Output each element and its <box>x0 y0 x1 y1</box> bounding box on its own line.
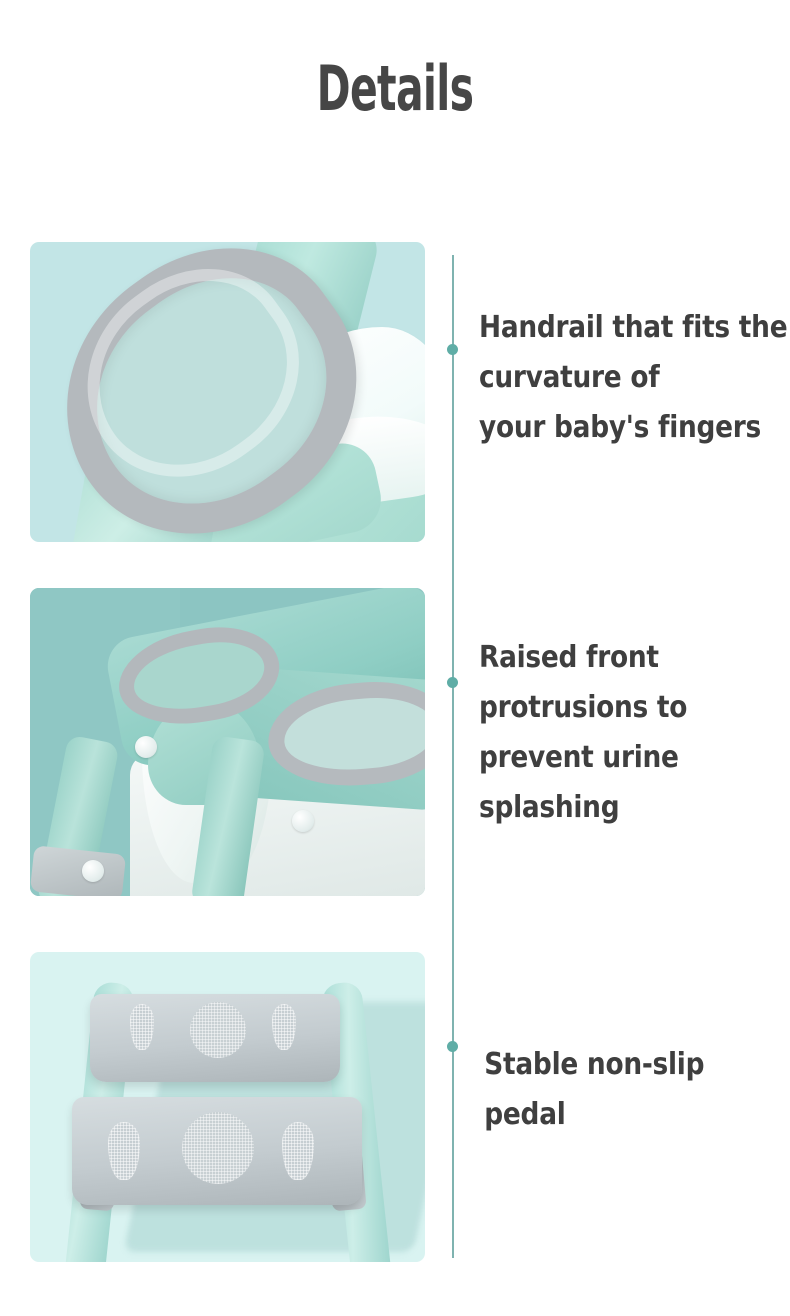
feature-photo-splash-guard <box>30 588 425 896</box>
adjustment-knob-1 <box>135 736 157 758</box>
feature-text-handrail: Handrail that fits the curvature of your… <box>479 303 784 453</box>
feature-photo-handrail <box>30 242 425 542</box>
adjustment-knob-3 <box>82 860 104 882</box>
feature-line: Raised front <box>479 633 747 683</box>
splash-guard-illustration <box>30 588 425 896</box>
feature-text-splash-guard: Raised front protrusions to prevent urin… <box>479 633 784 833</box>
gray-footplate <box>30 845 126 896</box>
feature-line: prevent urine <box>479 733 747 783</box>
pedal-illustration <box>30 952 425 1262</box>
page-title: Details <box>134 52 655 126</box>
timeline-dot-3 <box>447 1041 458 1052</box>
handrail-illustration <box>30 242 425 542</box>
feature-line: Handrail that fits the <box>479 303 747 353</box>
anti-slip-tread-upper <box>190 1002 246 1058</box>
adjustment-knob-2 <box>292 810 314 832</box>
feature-photo-pedal <box>30 952 425 1262</box>
timeline-line <box>452 255 454 1258</box>
footprint-icon-upper-left <box>130 1004 154 1050</box>
feature-line: splashing <box>479 783 747 833</box>
feature-line: protrusions to <box>479 683 747 733</box>
feature-line: curvature of <box>479 353 747 403</box>
feature-line: your baby's fingers <box>479 403 747 453</box>
footprint-icon-lower-right <box>282 1122 314 1180</box>
feature-line: Stable non-slip <box>479 1040 747 1090</box>
footprint-icon-upper-right <box>272 1004 296 1050</box>
feature-text-pedal: Stable non-slip pedal <box>479 1040 784 1140</box>
timeline-dot-1 <box>447 344 458 355</box>
feature-line: pedal <box>479 1090 747 1140</box>
footprint-icon-lower-left <box>108 1122 140 1180</box>
anti-slip-tread-lower <box>182 1112 254 1184</box>
timeline-dot-2 <box>447 677 458 688</box>
